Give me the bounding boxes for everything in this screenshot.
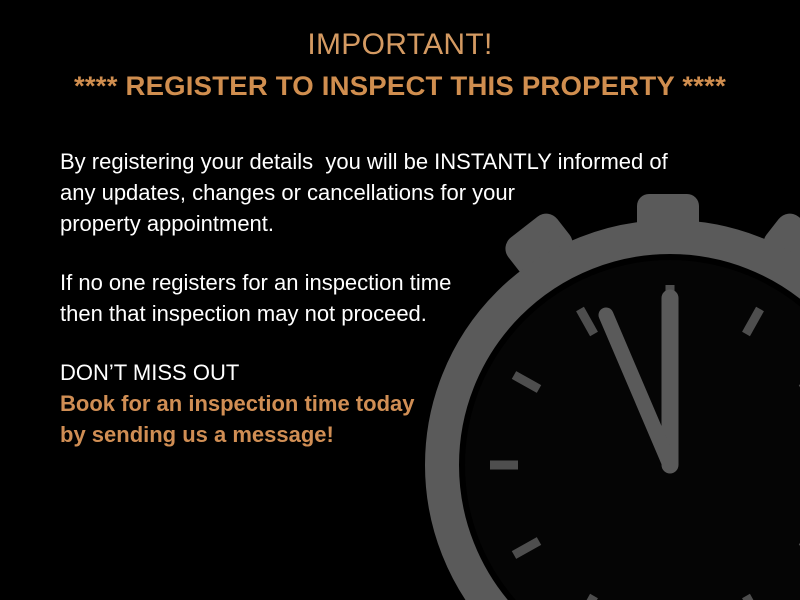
body-copy: By registering your details you will be …	[60, 146, 720, 450]
body-line: any updates, changes or cancellations fo…	[60, 177, 720, 208]
headline-primary: IMPORTANT!	[0, 26, 800, 64]
body-line: then that inspection may not proceed.	[60, 298, 720, 329]
body-line: If no one registers for an inspection ti…	[60, 267, 720, 298]
paragraph-no-registration-warning: If no one registers for an inspection ti…	[60, 267, 720, 329]
paragraph-registering-benefits: By registering your details you will be …	[60, 146, 720, 239]
body-line: property appointment.	[60, 208, 720, 239]
cta-line: Book for an inspection time today	[60, 388, 720, 419]
slide-canvas: IMPORTANT! **** REGISTER TO INSPECT THIS…	[0, 0, 800, 600]
paragraph-call-to-action: DON’T MISS OUT Book for an inspection ti…	[60, 357, 720, 450]
cta-headline: DON’T MISS OUT	[60, 357, 720, 388]
cta-line: by sending us a message!	[60, 419, 720, 450]
headline-secondary: **** REGISTER TO INSPECT THIS PROPERTY *…	[0, 68, 800, 104]
body-line: By registering your details you will be …	[60, 146, 720, 177]
paragraph-spacer	[60, 329, 720, 357]
paragraph-spacer	[60, 239, 720, 267]
headline-block: IMPORTANT! **** REGISTER TO INSPECT THIS…	[0, 26, 800, 104]
